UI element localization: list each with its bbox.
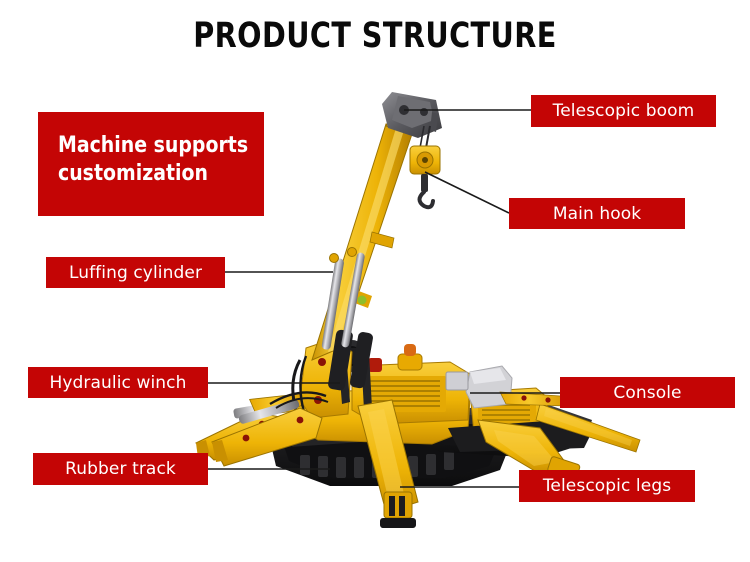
promo-line-2: customization bbox=[58, 160, 235, 188]
callout-luffing-cylinder: Luffing cylinder bbox=[46, 257, 225, 288]
callout-telescopic-boom: Telescopic boom bbox=[531, 95, 716, 127]
callout-console: Console bbox=[560, 377, 735, 408]
promo-banner: Machine supports customization bbox=[38, 112, 264, 216]
promo-line-1: Machine supports bbox=[58, 132, 235, 160]
product-structure-diagram: PRODUCT STRUCTURE bbox=[0, 0, 750, 562]
main-hook-part bbox=[410, 126, 440, 207]
callout-hydraulic-winch: Hydraulic winch bbox=[28, 367, 208, 398]
callout-rubber-track: Rubber track bbox=[33, 453, 208, 485]
callout-telescopic-legs: Telescopic legs bbox=[519, 470, 695, 502]
callout-main-hook: Main hook bbox=[509, 198, 685, 229]
